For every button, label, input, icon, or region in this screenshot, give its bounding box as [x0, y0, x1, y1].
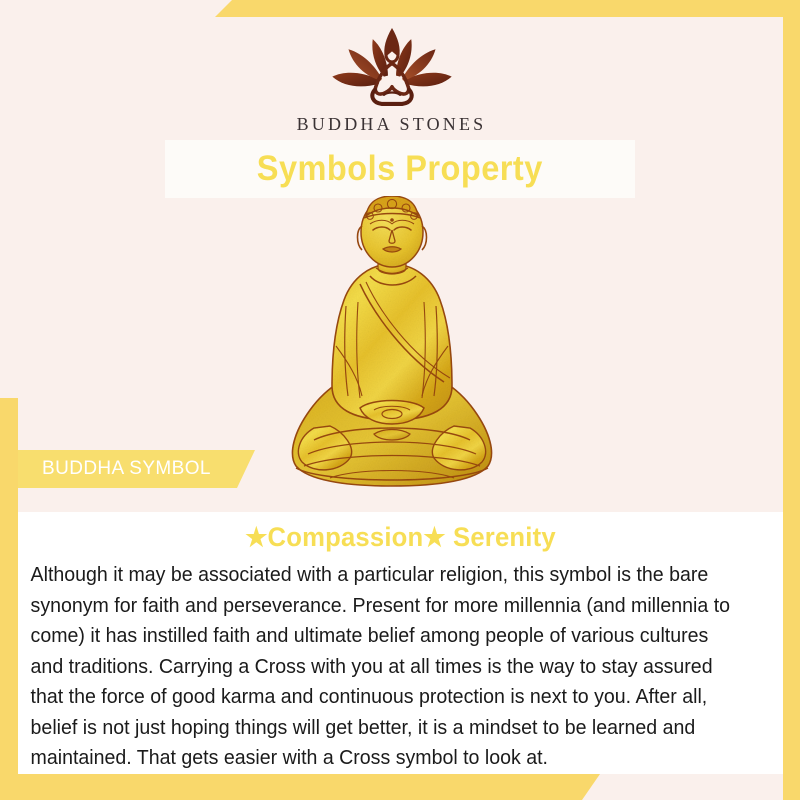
- decorative-band-bottom: [0, 774, 600, 800]
- lotus-meditation-icon: [326, 24, 458, 110]
- infographic-page: BUDDHA STONES Symbols Property: [0, 0, 800, 800]
- star-icon-2: ★: [423, 522, 445, 552]
- section-ribbon-label: BUDDHA SYMBOL: [42, 458, 211, 480]
- article-panel: ★Compassion★ Serenity Although it may be…: [18, 512, 783, 774]
- golden-buddha-statue: [274, 196, 510, 490]
- brand-logo: BUDDHA STONES: [0, 24, 783, 135]
- title-banner: Symbols Property: [165, 140, 635, 198]
- article-body: Although it may be associated with a par…: [18, 553, 756, 774]
- headline-word-serenity: Serenity: [453, 522, 556, 552]
- section-ribbon: BUDDHA SYMBOL: [18, 450, 255, 488]
- headline-word-compassion: Compassion: [268, 522, 424, 552]
- article-headline: ★Compassion★ Serenity: [37, 512, 764, 553]
- decorative-band-right: [783, 17, 800, 800]
- page-title: Symbols Property: [257, 149, 543, 189]
- brand-name: BUDDHA STONES: [297, 114, 487, 135]
- star-icon-1: ★: [245, 522, 267, 552]
- decorative-band-top: [215, 0, 800, 17]
